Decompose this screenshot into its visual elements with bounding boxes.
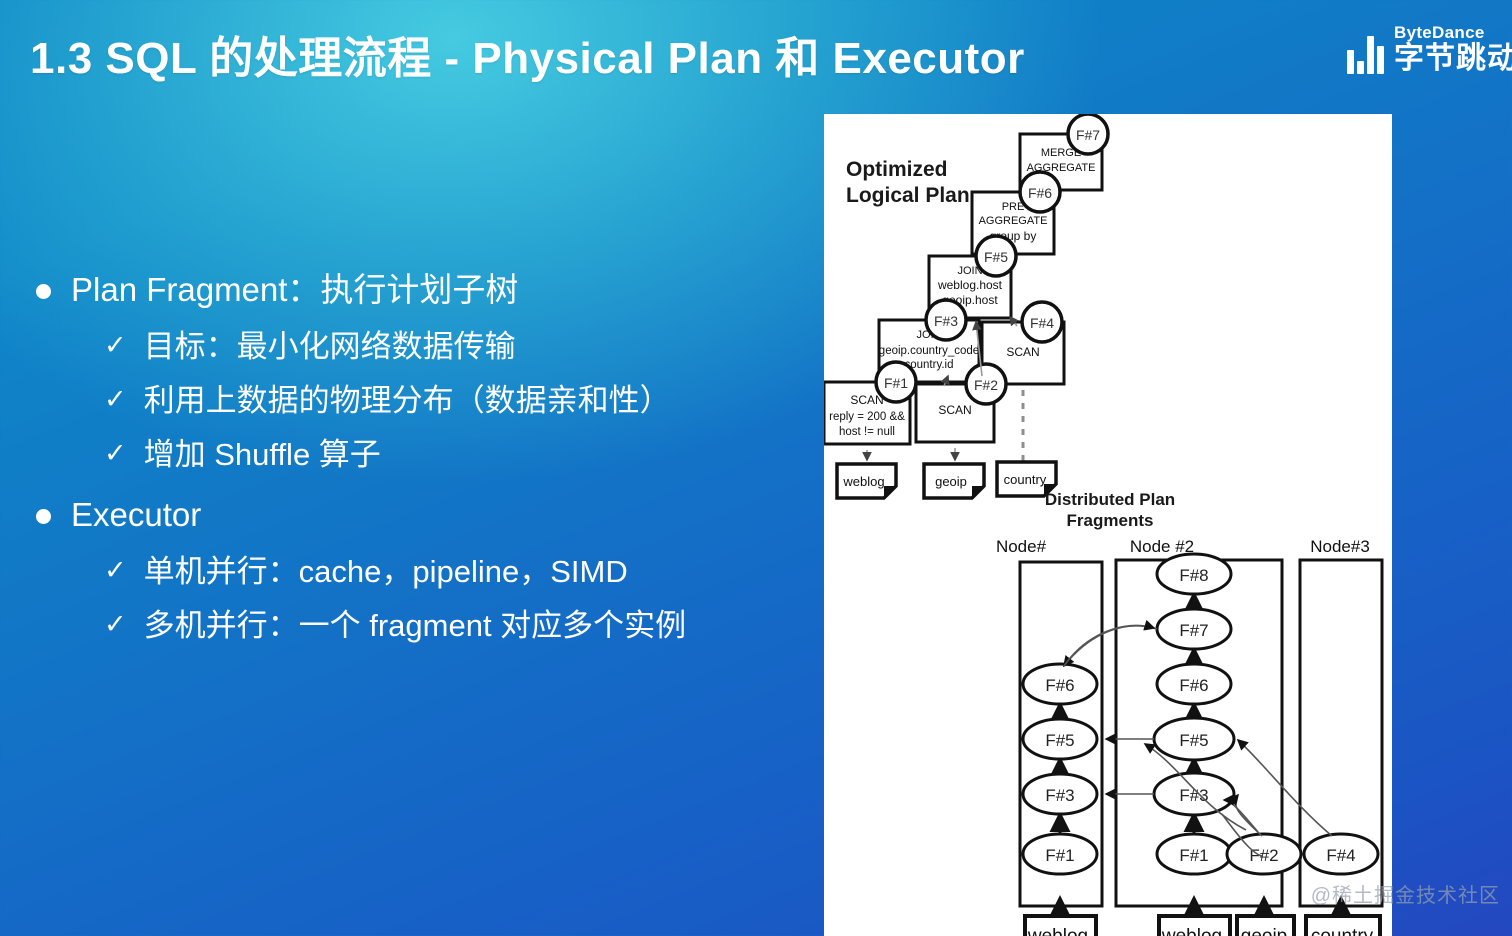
fragment-node-1-f1: F#1: [1023, 834, 1097, 874]
node-label-1: Node#: [996, 537, 1047, 556]
source-table-label: weblog: [1161, 926, 1222, 936]
fragment-node-1-f6: F#6: [1023, 664, 1097, 704]
fragment-label: F#6: [1179, 676, 1208, 695]
fragment-label: F#5: [1179, 731, 1208, 750]
source-table-weblog: weblog: [837, 464, 896, 498]
source-table-label: weblog: [842, 474, 884, 489]
source-table-label: country: [1311, 926, 1374, 936]
operator-node-scan-weblog: SCAN reply = 200 && host != null F#1: [824, 362, 916, 444]
check-mark-icon: ✓: [104, 608, 127, 640]
fragment-node-2-f8: F#8: [1157, 554, 1231, 594]
query-plan-diagram: Optimized Logical Plan MERGE AGGREGATE F…: [824, 114, 1392, 936]
logo-text-block: ByteDance 字节跳动: [1394, 24, 1512, 74]
fragment-label: F#5: [1045, 731, 1074, 750]
logo-name-cn: 字节跳动: [1394, 44, 1512, 74]
distributed-plan-heading-line2: Fragments: [1067, 511, 1154, 530]
fragment-node-2-f7: F#7: [1157, 609, 1231, 649]
node2-table-weblog: weblog: [1159, 916, 1230, 936]
fragment-label: F#3: [1045, 786, 1074, 805]
bullet-label: Executor: [71, 493, 201, 538]
operator-line: weblog.host: [937, 278, 1003, 292]
fragment-label: F#7: [1179, 621, 1208, 640]
bullet-item-executor: Executor: [36, 493, 826, 538]
bytedance-logo: ByteDance 字节跳动: [1347, 24, 1512, 74]
operator-line: PRE: [1002, 201, 1025, 213]
check-mark-icon: ✓: [104, 437, 127, 469]
sub-bullet-group-plan-fragment: ✓ 目标：最小化网络数据传输 ✓ 利用上数据的物理分布（数据亲和性） ✓ 增加 …: [36, 327, 826, 476]
bullet-label: Plan Fragment：执行计划子树: [71, 268, 518, 313]
bullet-list: Plan Fragment：执行计划子树 ✓ 目标：最小化网络数据传输 ✓ 利用…: [36, 268, 826, 661]
fragment-node-2-f2: F#2: [1227, 834, 1301, 874]
fragment-label: F#1: [1179, 846, 1208, 865]
check-mark-icon: ✓: [104, 383, 127, 415]
node3-table-country: country: [1306, 916, 1380, 936]
sub-bullet-label: 增加 Shuffle 算子: [144, 435, 381, 475]
sub-bullet-item: ✓ 利用上数据的物理分布（数据亲和性）: [104, 381, 826, 421]
filled-circle-bullet-icon: [36, 509, 51, 524]
sub-bullet-label: 单机并行：cache，pipeline，SIMD: [144, 552, 628, 592]
sub-bullet-label: 目标：最小化网络数据传输: [144, 327, 516, 367]
operator-line: SCAN: [938, 403, 971, 417]
fragment-label: F#2: [1249, 846, 1278, 865]
source-table-label: geoip: [935, 474, 967, 489]
sub-bullet-item: ✓ 单机并行：cache，pipeline，SIMD: [104, 552, 826, 592]
fragment-label: F#8: [1179, 566, 1208, 585]
fragment-badge-label: F#1: [884, 375, 908, 391]
operator-line: reply = 200 &&: [829, 411, 905, 423]
operator-line: host != null: [839, 426, 895, 438]
fragment-node-1-f5: F#5: [1023, 719, 1097, 759]
sub-bullet-item: ✓ 目标：最小化网络数据传输: [104, 327, 826, 367]
check-mark-icon: ✓: [104, 554, 127, 586]
logo-name-en: ByteDance: [1394, 24, 1512, 41]
node2-table-geoip: geoip: [1237, 916, 1294, 936]
logical-plan-heading-line1: Optimized: [846, 158, 948, 181]
fragment-badge-label: F#5: [984, 249, 1008, 265]
sub-bullet-label: 利用上数据的物理分布（数据亲和性）: [144, 381, 671, 421]
node1-table-weblog: weblog: [1025, 916, 1096, 936]
fragment-label: F#6: [1045, 676, 1074, 695]
sub-bullet-item: ✓ 增加 Shuffle 算子: [104, 435, 826, 475]
source-table-label: geoip: [1241, 926, 1288, 936]
bytedance-logo-icon: [1347, 36, 1384, 74]
fragment-node-2-f3: F#3: [1154, 773, 1234, 815]
operator-line: geoip.country_code: [879, 345, 979, 357]
source-table-label: country: [1004, 472, 1047, 487]
operator-line: AGGREGATE: [979, 215, 1048, 227]
distributed-plan-heading-line1: Distributed Plan: [1045, 490, 1175, 509]
logical-plan-heading-line2: Logical Plan: [846, 184, 970, 207]
check-mark-icon: ✓: [104, 329, 127, 361]
fragment-node-3-f4: F#4: [1304, 834, 1378, 874]
fragment-badge-label: F#6: [1028, 185, 1052, 201]
fragment-node-2-f5: F#5: [1154, 718, 1234, 760]
sub-bullet-item: ✓ 多机并行：一个 fragment 对应多个实例: [104, 606, 826, 646]
query-plan-diagram-panel: Optimized Logical Plan MERGE AGGREGATE F…: [824, 114, 1392, 936]
fragment-node-2-f6: F#6: [1157, 664, 1231, 704]
source-table-geoip: geoip: [924, 464, 984, 498]
fragment-label: F#1: [1045, 846, 1074, 865]
fragment-node-2-f1: F#1: [1157, 834, 1231, 874]
source-table-label: weblog: [1027, 926, 1088, 936]
sub-bullet-label: 多机并行：一个 fragment 对应多个实例: [144, 606, 687, 646]
bullet-item-plan-fragment: Plan Fragment：执行计划子树: [36, 268, 826, 313]
operator-line: SCAN: [1006, 345, 1039, 359]
page-title: 1.3 SQL 的处理流程 - Physical Plan 和 Executor: [30, 22, 1025, 86]
filled-circle-bullet-icon: [36, 284, 51, 299]
fragment-badge-label: F#4: [1030, 315, 1054, 331]
node-label-3: Node#3: [1310, 537, 1370, 556]
fragment-badge-label: F#2: [974, 377, 998, 393]
fragment-label: F#4: [1326, 846, 1355, 865]
sub-bullet-group-executor: ✓ 单机并行：cache，pipeline，SIMD ✓ 多机并行：一个 fra…: [36, 552, 826, 647]
watermark-text: @稀土掘金技术社区: [1311, 879, 1500, 908]
fragment-node-1-f3: F#3: [1023, 774, 1097, 814]
fragment-badge-label: F#7: [1076, 127, 1100, 143]
fragment-badge-label: F#3: [934, 313, 958, 329]
